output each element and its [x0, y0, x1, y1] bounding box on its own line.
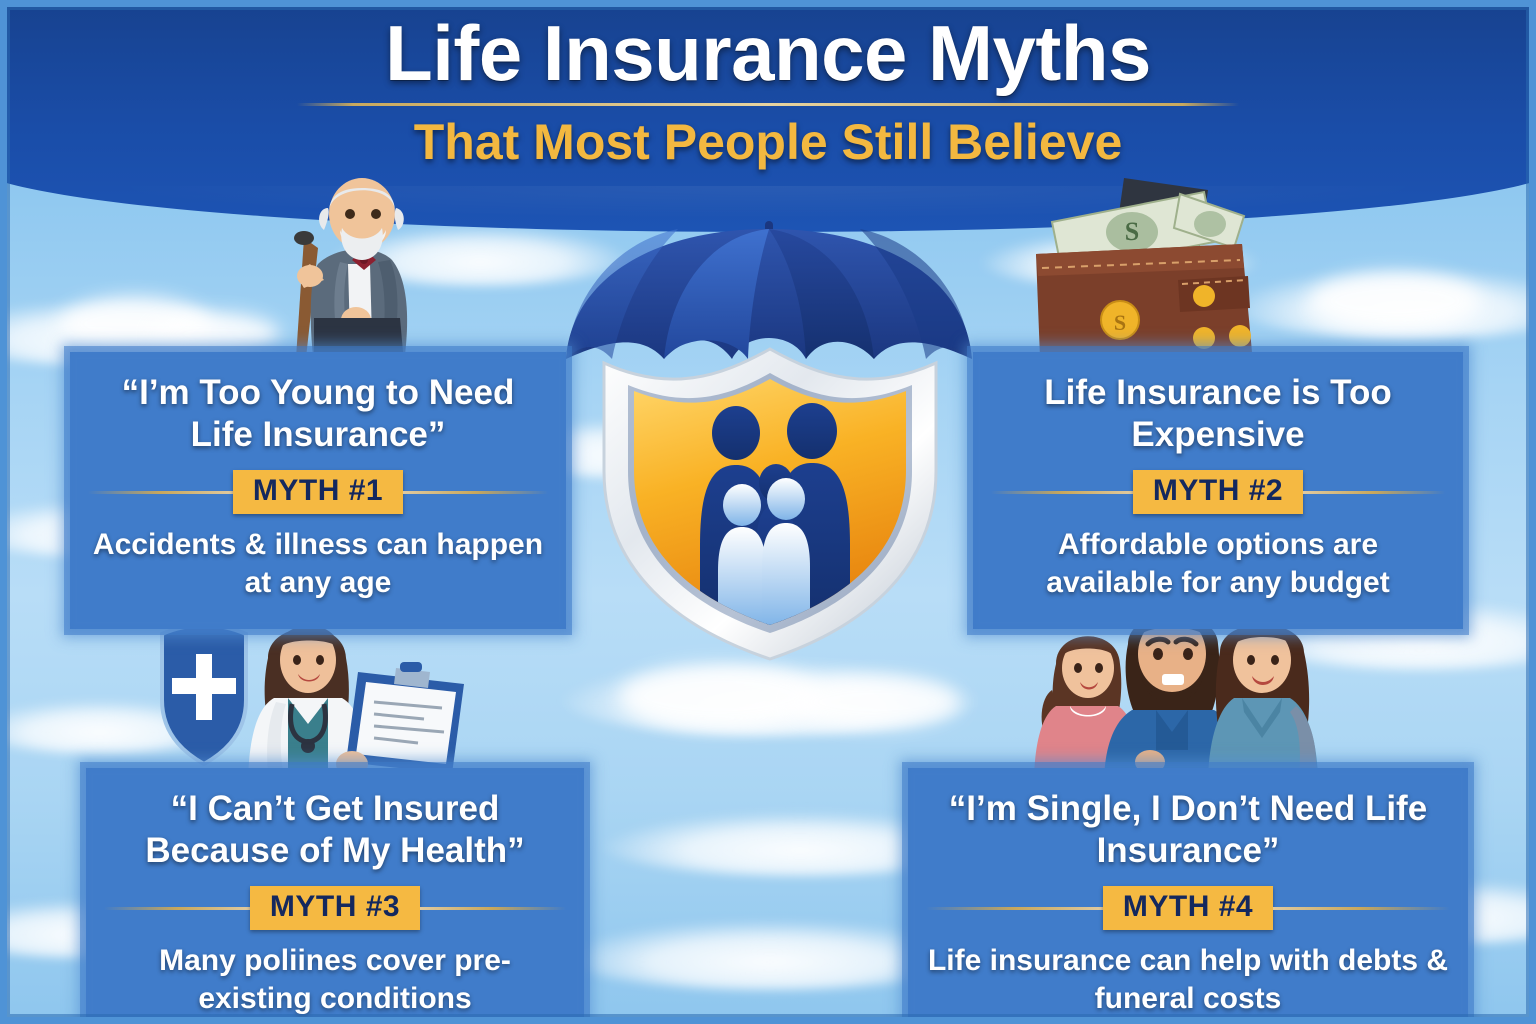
myth-card-2[interactable]: Life Insurance is Too Expensive MYTH #2 …: [973, 352, 1463, 629]
badge-rule-right: [1273, 907, 1450, 910]
badge-rule-right: [1303, 491, 1445, 494]
shield-icon: [604, 349, 936, 659]
badge-rule-left: [88, 491, 233, 494]
svg-text:S: S: [1125, 217, 1139, 246]
page-title: Life Insurance Myths: [385, 14, 1151, 94]
myth-card-4[interactable]: “I’m Single, I Don’t Need Life Insurance…: [908, 768, 1468, 1024]
myth-title: “I Can’t Get Insured Because of My Healt…: [104, 788, 566, 872]
umbrella-icon: [566, 221, 972, 359]
myth-title: “I’m Too Young to Need Life Insurance”: [88, 372, 548, 456]
title-divider: [297, 103, 1239, 106]
umbrella-shield-family-emblem: [560, 215, 980, 665]
myth-badge-row: MYTH #3: [104, 886, 566, 930]
myth-fact: Accidents & illness can happen at any ag…: [88, 526, 548, 603]
myth-badge-row: MYTH #1: [88, 470, 548, 514]
myth-card-3[interactable]: “I Can’t Get Insured Because of My Healt…: [86, 768, 584, 1024]
badge-rule-left: [991, 491, 1133, 494]
myth-fact: Affordable options are available for any…: [991, 526, 1445, 603]
status-badge: MYTH #4: [1103, 886, 1273, 930]
medical-shield-icon: [162, 625, 246, 764]
wallet-with-cash-illustration: S S: [1028, 172, 1264, 358]
badge-rule-left: [926, 907, 1103, 910]
myth-card-1[interactable]: “I’m Too Young to Need Life Insurance” M…: [70, 352, 566, 629]
header-band: Life Insurance Myths That Most People St…: [0, 0, 1536, 232]
myth-badge-row: MYTH #4: [926, 886, 1450, 930]
badge-rule-left: [104, 907, 250, 910]
myth-badge-row: MYTH #2: [991, 470, 1445, 514]
badge-rule-right: [420, 907, 566, 910]
myth-title: “I’m Single, I Don’t Need Life Insurance…: [926, 788, 1450, 872]
myth-title: Life Insurance is Too Expensive: [991, 372, 1445, 456]
myth-fact: Life insurance can help with debts & fun…: [926, 942, 1450, 1019]
badge-rule-right: [403, 491, 548, 494]
status-badge: MYTH #1: [233, 470, 403, 514]
status-badge: MYTH #2: [1133, 470, 1303, 514]
elderly-man-with-cane-illustration: [252, 168, 452, 363]
page-subtitle: That Most People Still Believe: [414, 116, 1123, 169]
myth-fact: Many poliines cover pre-existing conditi…: [104, 942, 566, 1019]
status-badge: MYTH #3: [250, 886, 420, 930]
infographic-poster: Life Insurance Myths That Most People St…: [0, 0, 1536, 1024]
svg-text:S: S: [1114, 310, 1126, 335]
